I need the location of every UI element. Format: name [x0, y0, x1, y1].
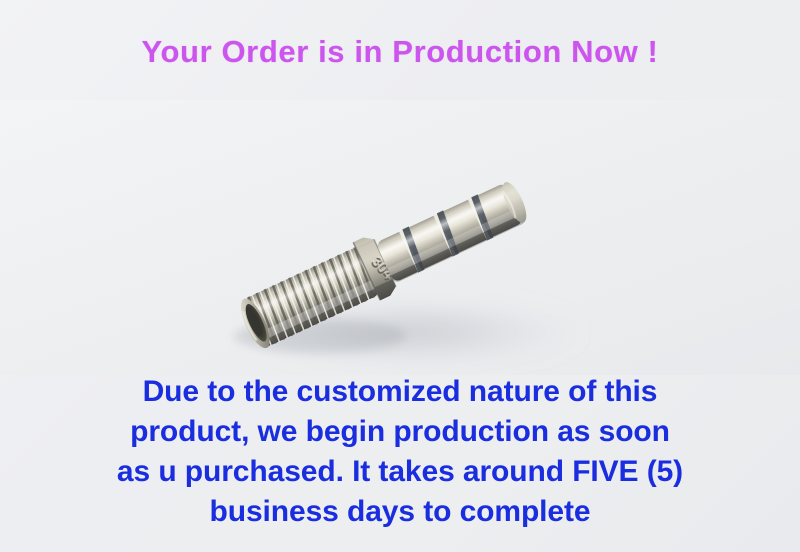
product-photo: 304 304 — [0, 100, 800, 375]
body-copy-line-3: as u purchased. It takes around FIVE (5) — [0, 452, 800, 492]
body-copy-line-2: product, we begin production as soon — [0, 412, 800, 452]
body-copy-line-4: business days to complete — [0, 492, 800, 532]
body-copy: Due to the customized nature of this pro… — [0, 372, 800, 532]
body-copy-line-1: Due to the customized nature of this — [0, 372, 800, 412]
headline-text: Your Order is in Production Now ! — [0, 34, 800, 70]
promo-banner: Your Order is in Production Now ! — [0, 0, 800, 552]
product-photo-illustration: 304 304 — [0, 100, 800, 375]
photo-vignette — [0, 100, 800, 375]
